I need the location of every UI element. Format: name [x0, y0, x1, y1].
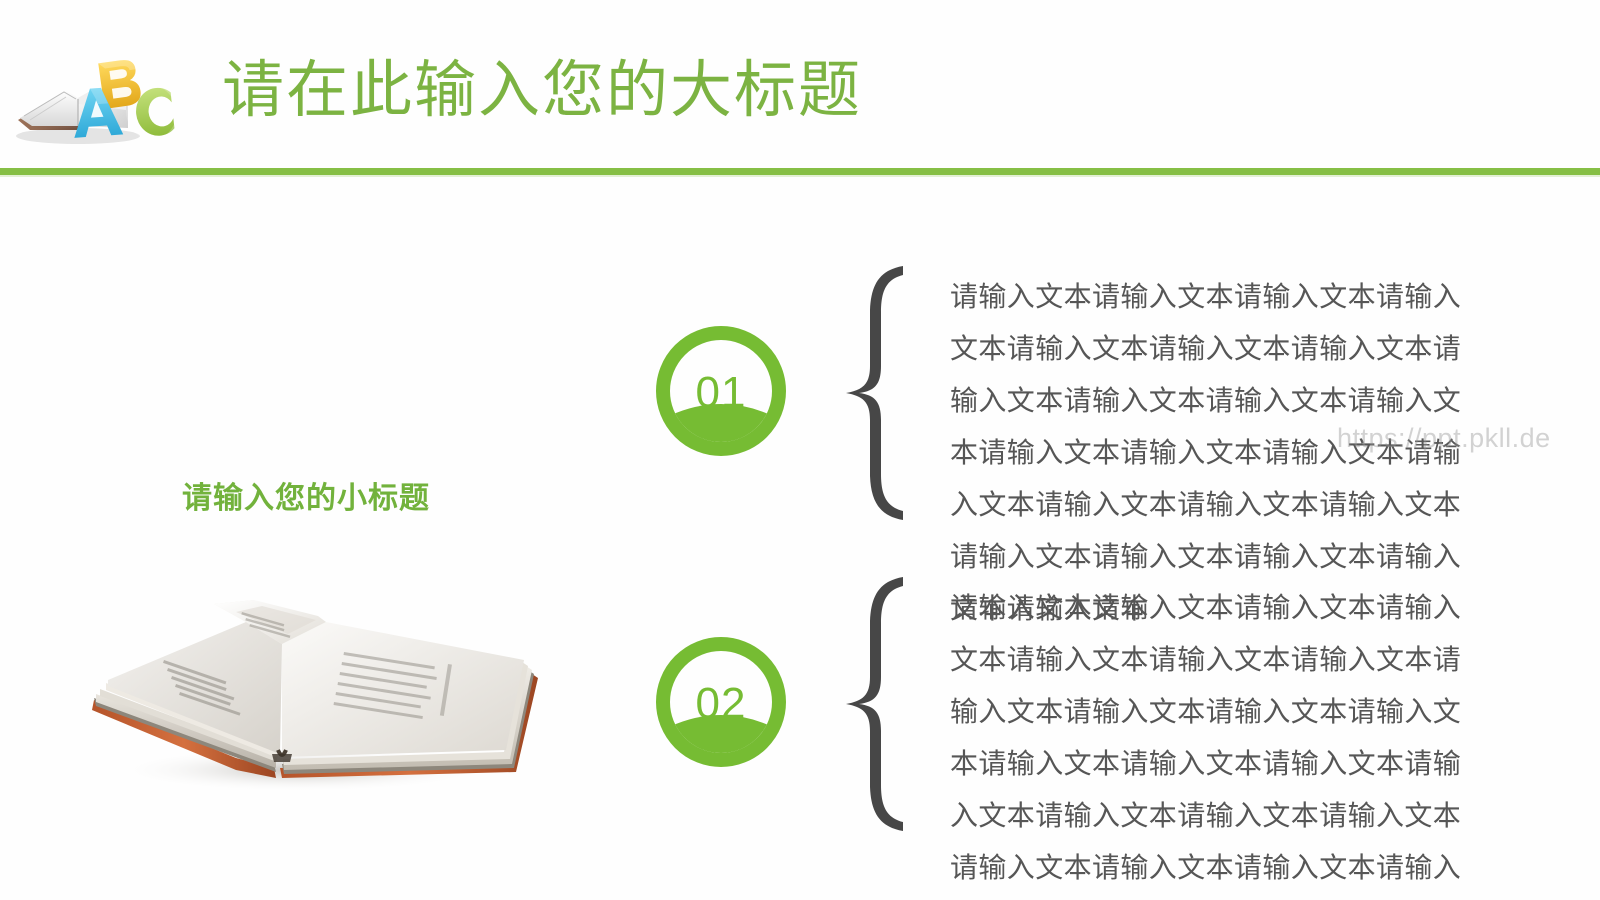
open-book-photo	[86, 582, 546, 797]
step-badge-number: 01	[696, 368, 747, 417]
step-badge-02[interactable]: 02	[655, 636, 787, 768]
header-divider-shadow	[0, 175, 1600, 177]
row-body-text: 请输入文本请输入文本请输入文本请输入文本请输入文本请输入文本请输入文本请输入文本…	[950, 582, 1470, 900]
abc-book-logo-icon	[8, 44, 208, 149]
step-badge-01[interactable]: 01	[655, 325, 787, 457]
row-body-text: 请输入文本请输入文本请输入文本请输入文本请输入文本请输入文本请输入文本请输入文本…	[950, 271, 1470, 635]
page-title: 请在此输入您的大标题	[222, 52, 862, 130]
header-divider	[0, 168, 1600, 175]
curly-brace-icon	[840, 573, 916, 835]
curly-brace-icon	[840, 262, 916, 524]
section-subtitle: 请输入您的小标题	[182, 478, 430, 520]
slide-canvas: 请在此输入您的大标题 请输入您的小标题	[0, 0, 1600, 900]
slide-header: 请在此输入您的大标题	[0, 0, 1600, 176]
step-badge-number: 02	[696, 679, 747, 728]
